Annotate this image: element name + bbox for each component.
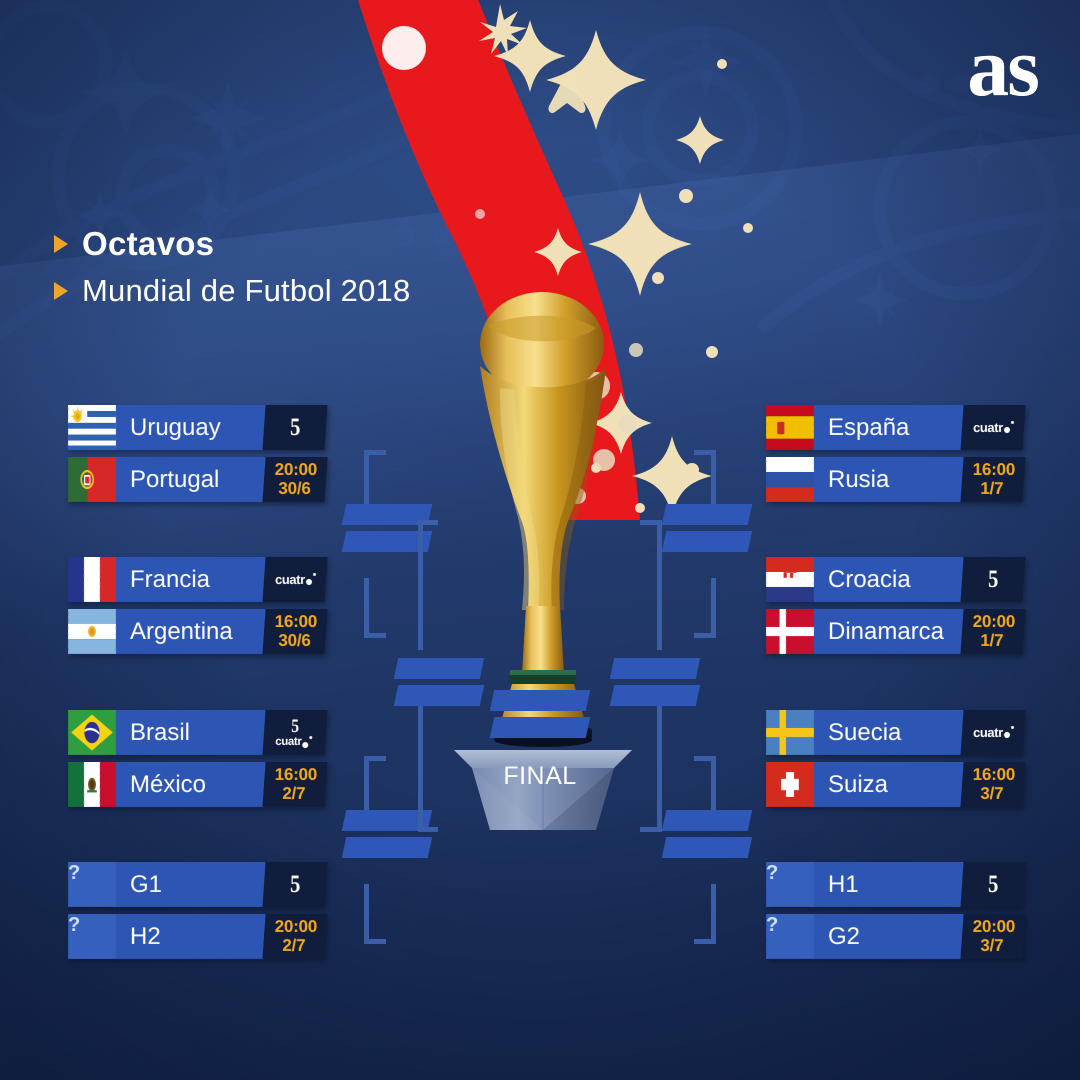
match-row-bottom[interactable]: Dinamarca20:001/7 xyxy=(764,609,1025,654)
match-row-top[interactable]: Sueciacuatr xyxy=(764,710,1025,755)
team-name-box: H1 xyxy=(810,862,963,907)
heading-primary-row: Octavos xyxy=(54,225,410,263)
team-name: Uruguay xyxy=(130,414,221,442)
team-name-box: Suecia xyxy=(810,710,963,755)
match-date: 30/6 xyxy=(278,632,310,651)
flag-suiza xyxy=(766,762,814,807)
match-row-bottom[interactable]: ?G220:003/7 xyxy=(764,914,1025,959)
team-name: Croacia xyxy=(828,566,911,594)
channel-logo-box: 5cuatr xyxy=(262,710,327,755)
team-name: Francia xyxy=(130,566,210,594)
flag-placeholder: ? xyxy=(766,914,814,959)
team-name-box: Uruguay xyxy=(112,405,265,450)
match-time: 20:00 xyxy=(972,918,1014,937)
flag-placeholder: ? xyxy=(68,914,116,959)
channel-logo-box: 5 xyxy=(262,405,327,450)
channel-logo-box: 5 xyxy=(960,557,1025,602)
match-time-box: 20:001/7 xyxy=(960,609,1025,654)
channel-logo-box: cuatr xyxy=(262,557,327,602)
telecinco-logo-icon: 5 xyxy=(290,415,300,440)
match-row-top[interactable]: ?H15 xyxy=(764,862,1025,907)
team-name-box: España xyxy=(810,405,963,450)
cuatro-logo-icon: cuatr xyxy=(973,726,1014,739)
team-name: México xyxy=(130,771,206,799)
match-time-box: 16:003/7 xyxy=(960,762,1025,807)
flag-suecia xyxy=(766,710,814,755)
match-time-box: 20:003/7 xyxy=(960,914,1025,959)
channel-logo-box: 5 xyxy=(262,862,327,907)
page-heading: Octavos Mundial de Futbol 2018 xyxy=(54,225,410,309)
triangle-marker-icon xyxy=(54,235,68,253)
match-row-top[interactable]: Franciacuatr xyxy=(66,557,327,602)
team-name-box: México xyxy=(112,762,265,807)
match-time: 16:00 xyxy=(972,766,1014,785)
match-uruguay-portugal[interactable]: Uruguay5Portugal20:0030/6 xyxy=(68,405,326,502)
team-name: Suecia xyxy=(828,719,901,747)
team-name-box: Suiza xyxy=(810,762,963,807)
match-row-bottom[interactable]: México16:002/7 xyxy=(66,762,327,807)
match-row-bottom[interactable]: Argentina16:0030/6 xyxy=(66,609,327,654)
team-name: G1 xyxy=(130,871,162,899)
match-row-bottom[interactable]: Suiza16:003/7 xyxy=(764,762,1025,807)
team-name-box: Brasil xyxy=(112,710,265,755)
match-time-box: 20:002/7 xyxy=(262,914,327,959)
telecinco-logo-icon: 5 xyxy=(292,717,300,736)
triangle-marker-icon xyxy=(54,282,68,300)
match-date: 1/7 xyxy=(981,480,1004,499)
team-name: Brasil xyxy=(130,719,190,747)
flag-portugal xyxy=(68,457,116,502)
flag-brasil xyxy=(68,710,116,755)
team-name-box: H2 xyxy=(112,914,265,959)
match-row-bottom[interactable]: ?H220:002/7 xyxy=(66,914,327,959)
channel-logo-box: cuatr xyxy=(960,405,1025,450)
as-logo: as xyxy=(967,26,1038,110)
match-date: 1/7 xyxy=(981,632,1004,651)
team-name-box: Rusia xyxy=(810,457,963,502)
team-name-box: Dinamarca xyxy=(810,609,963,654)
match-time-box: 20:0030/6 xyxy=(262,457,327,502)
match-date: 3/7 xyxy=(981,937,1004,956)
team-name: Rusia xyxy=(828,466,889,494)
team-name-box: Francia xyxy=(112,557,265,602)
flag-dinamarca xyxy=(766,609,814,654)
flag-rusia xyxy=(766,457,814,502)
match-row-top[interactable]: Brasil5cuatr xyxy=(66,710,327,755)
team-name: H2 xyxy=(130,923,161,951)
flag-placeholder: ? xyxy=(68,862,116,907)
match-row-top[interactable]: Uruguay5 xyxy=(66,405,327,450)
match-suecia-suiza[interactable]: SueciacuatrSuiza16:003/7 xyxy=(766,710,1024,807)
flag-argentina xyxy=(68,609,116,654)
match-date: 2/7 xyxy=(283,937,306,956)
team-name-box: G2 xyxy=(810,914,963,959)
team-name: H1 xyxy=(828,871,859,899)
world-cup-trophy xyxy=(418,270,668,830)
team-name-box: Argentina xyxy=(112,609,265,654)
match-row-bottom[interactable]: Portugal20:0030/6 xyxy=(66,457,327,502)
match-time-box: 16:001/7 xyxy=(960,457,1025,502)
flag-croacia xyxy=(766,557,814,602)
match-time: 16:00 xyxy=(972,461,1014,480)
team-name: Suiza xyxy=(828,771,888,799)
cuatro-logo-icon: cuatr xyxy=(276,737,313,749)
match-row-bottom[interactable]: Rusia16:001/7 xyxy=(764,457,1025,502)
flag-placeholder: ? xyxy=(766,862,814,907)
cuatro-logo-icon: cuatr xyxy=(275,573,316,586)
match-g1-h2[interactable]: ?G15?H220:002/7 xyxy=(68,862,326,959)
flag-espana xyxy=(766,405,814,450)
team-name: Argentina xyxy=(130,618,233,646)
match-time: 20:00 xyxy=(274,461,316,480)
match-time: 20:00 xyxy=(972,613,1014,632)
channel-logo-box: cuatr xyxy=(960,710,1025,755)
telecinco-logo-icon: 5 xyxy=(290,872,300,897)
match-espana-rusia[interactable]: EspañacuatrRusia16:001/7 xyxy=(766,405,1024,502)
page-subtitle: Mundial de Futbol 2018 xyxy=(82,273,410,309)
match-row-top[interactable]: Españacuatr xyxy=(764,405,1025,450)
team-name: Dinamarca xyxy=(828,618,944,646)
telecinco-logo-icon: 5 xyxy=(988,567,998,592)
match-time: 16:00 xyxy=(274,766,316,785)
match-time-box: 16:002/7 xyxy=(262,762,327,807)
heading-secondary-row: Mundial de Futbol 2018 xyxy=(54,273,410,309)
team-name-box: Portugal xyxy=(112,457,265,502)
match-time: 16:00 xyxy=(274,613,316,632)
telecinco-logo-icon: 5 xyxy=(988,872,998,897)
match-date: 2/7 xyxy=(283,785,306,804)
team-name: G2 xyxy=(828,923,860,951)
match-brasil-mexico[interactable]: Brasil5cuatrMéxico16:002/7 xyxy=(68,710,326,807)
team-name-box: Croacia xyxy=(810,557,963,602)
match-time: 20:00 xyxy=(274,918,316,937)
team-name: Portugal xyxy=(130,466,219,494)
match-croacia-dinamarca[interactable]: Croacia5Dinamarca20:001/7 xyxy=(766,557,1024,654)
match-time-box: 16:0030/6 xyxy=(262,609,327,654)
cuatro-logo-icon: cuatr xyxy=(973,421,1014,434)
team-name-box: G1 xyxy=(112,862,265,907)
flag-uruguay xyxy=(68,405,116,450)
channel-logo-box: 5 xyxy=(960,862,1025,907)
team-name: España xyxy=(828,414,909,442)
match-h1-g2[interactable]: ?H15?G220:003/7 xyxy=(766,862,1024,959)
match-date: 30/6 xyxy=(278,480,310,499)
match-francia-argentina[interactable]: FranciacuatrArgentina16:0030/6 xyxy=(68,557,326,654)
page-title: Octavos xyxy=(82,225,214,263)
match-row-top[interactable]: Croacia5 xyxy=(764,557,1025,602)
match-date: 3/7 xyxy=(981,785,1004,804)
flag-mexico xyxy=(68,762,116,807)
flag-francia xyxy=(68,557,116,602)
match-row-top[interactable]: ?G15 xyxy=(66,862,327,907)
